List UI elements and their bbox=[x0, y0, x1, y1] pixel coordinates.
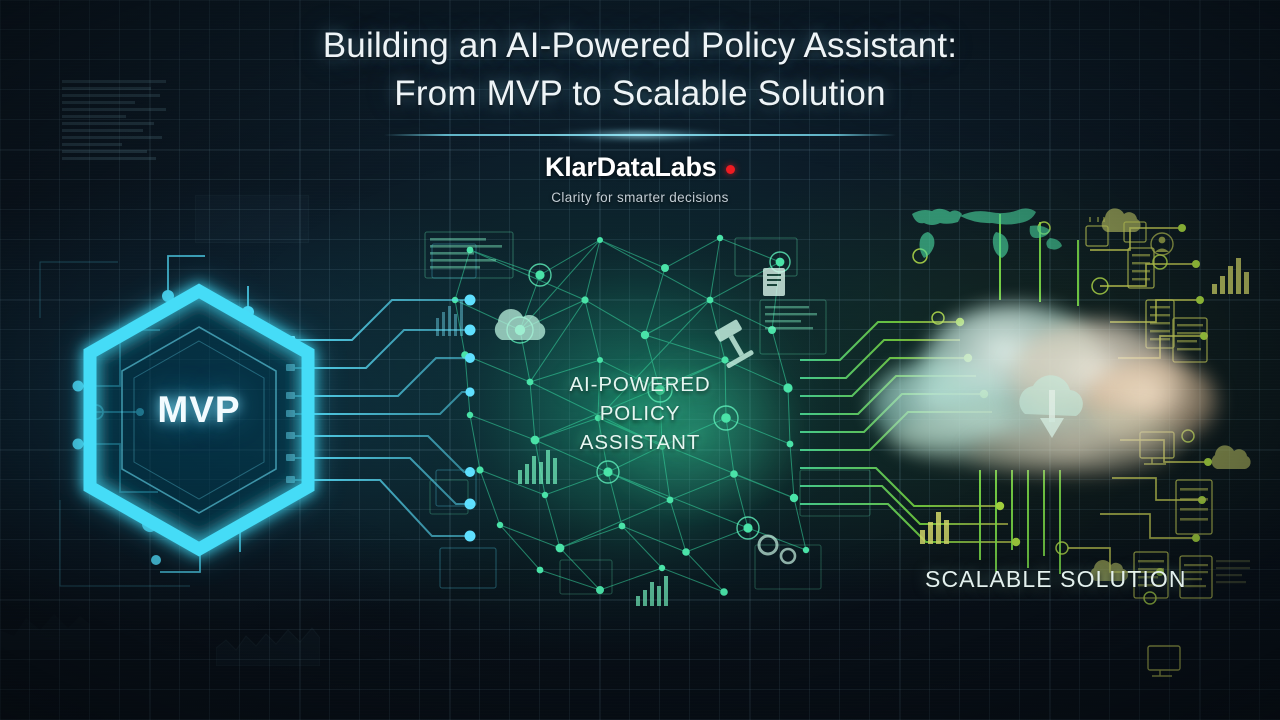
slide-header: Building an AI-Powered Policy Assistant:… bbox=[0, 22, 1280, 205]
cloud-download-icon bbox=[1005, 360, 1097, 452]
center-label-line3: ASSISTANT bbox=[520, 428, 760, 457]
brand-tagline: Clarity for smarter decisions bbox=[0, 190, 1280, 205]
right-stage-label: SCALABLE SOLUTION bbox=[925, 566, 1187, 593]
page-title: Building an AI-Powered Policy Assistant:… bbox=[0, 22, 1280, 118]
title-line-2: From MVP to Scalable Solution bbox=[0, 70, 1280, 118]
brand-dot-icon bbox=[726, 165, 735, 174]
world-map-icon bbox=[912, 208, 1062, 258]
center-label-line1: AI-POWERED bbox=[520, 370, 760, 399]
mvp-label: MVP bbox=[78, 389, 320, 431]
slide-canvas: MVP AI-POWERED POLICY ASSISTANT SCALABLE… bbox=[0, 0, 1280, 720]
glowing-divider bbox=[384, 134, 896, 136]
title-line-1: Building an AI-Powered Policy Assistant: bbox=[0, 22, 1280, 70]
mvp-stage: MVP bbox=[78, 285, 320, 555]
center-stage-label: AI-POWERED POLICY ASSISTANT bbox=[520, 370, 760, 457]
user-icon bbox=[1151, 233, 1173, 255]
center-label-line2: POLICY bbox=[520, 399, 760, 428]
brand-name: KlarDataLabs bbox=[545, 152, 717, 183]
brand-lockup: KlarDataLabs Clarity for smarter decisio… bbox=[0, 152, 1280, 205]
